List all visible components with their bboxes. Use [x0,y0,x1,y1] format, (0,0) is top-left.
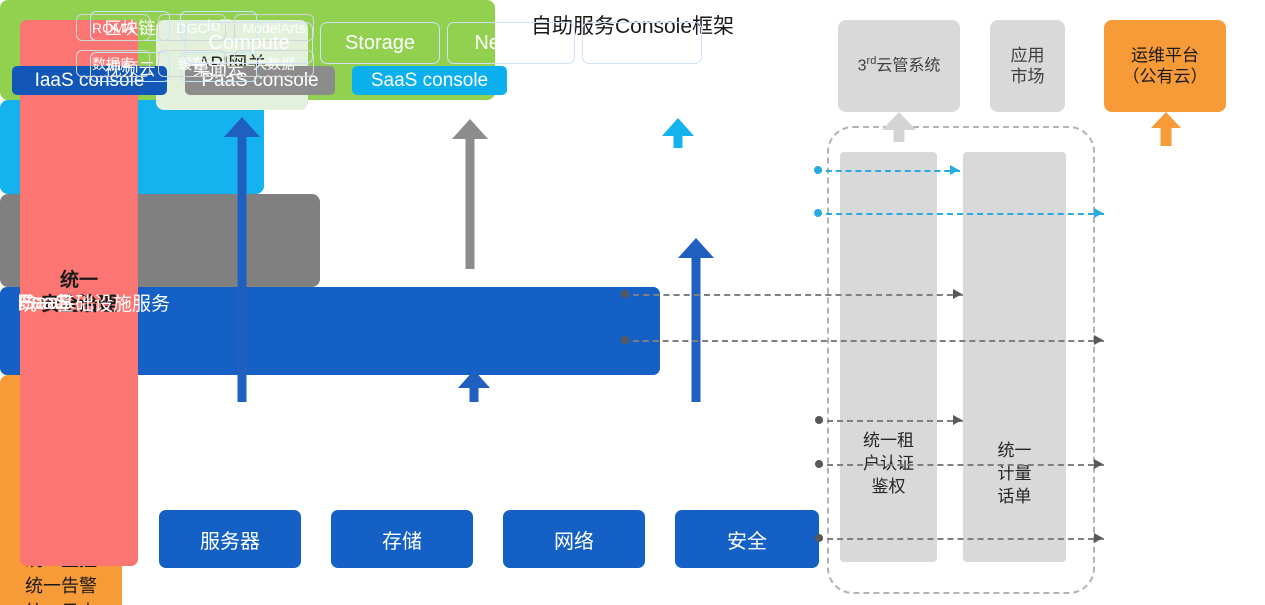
arrow-saas-to-console [662,118,694,148]
connector-infra-to-auth [817,420,963,422]
ops-platform-line-2: （公有云） [1123,66,1208,87]
connector-arrowhead [1094,335,1103,345]
resource-box-storage[interactable]: 存储 [331,510,473,568]
connector-arrowhead [1094,208,1103,218]
connector-saas-to-metering [816,170,960,172]
connector-dot [814,166,822,174]
auth-line-3: 鉴权 [840,476,937,499]
ops-platform-line-1: 运维平台 [1123,45,1208,66]
auth-line-1: 统一租 [840,430,937,453]
ops-platform-public-cloud-box: 运维平台 （公有云） [1104,20,1226,112]
connector-saas-to-ops [816,213,1104,215]
infrastructure-label: 统一基础设施服务 [18,0,170,605]
connector-arrowhead [950,165,959,175]
third-party-cloud-management-box: 3rd云管系统 [838,20,960,112]
arrow-infra-to-paas [458,370,490,402]
architecture-diagram: 统一 安全治理 API网关 自助服务Console框架 IaaS console… [0,0,1265,605]
infra-chip-compute[interactable]: Compute [185,22,313,64]
infra-chip-network[interactable]: Network [447,22,575,64]
connector-dot [815,460,823,468]
infra-chip-cce[interactable]: CCE [582,22,702,64]
unified-infrastructure-service-panel: 统一基础设施服务 Compute Storage Network CCE [0,287,660,375]
app-market-line-1: 应用 [1011,45,1045,66]
metering-line-3: 话单 [963,486,1066,509]
saas-console-chip[interactable]: SaaS console [352,66,507,95]
arrow-ops-column-to-ops-platform [1150,112,1182,146]
arrow-infra-to-api-gateway [224,117,260,402]
application-market-box: 应用 市场 [990,20,1065,112]
connector-arrowhead [953,289,962,299]
arrow-infra-to-saas [678,238,714,402]
arrow-paas-to-console [452,119,488,269]
connector-infra-to-ops [817,464,1104,466]
resource-box-security[interactable]: 安全 [675,510,819,568]
arrow-shared-to-third-party-cloud [882,112,916,142]
connector-resources-to-ops [817,538,1104,540]
connector-arrowhead [1094,459,1103,469]
connector-arrowhead [1094,533,1103,543]
connector-dot [814,209,822,217]
metering-line-2: 计量 [963,463,1066,486]
resource-box-network[interactable]: 网络 [503,510,645,568]
connector-dot [815,534,823,542]
third-party-label: 3rd云管系统 [858,55,941,76]
metering-line-1: 统一 [963,440,1066,463]
connector-arrowhead [953,415,962,425]
connector-dot [621,336,629,344]
connector-dot [815,416,823,424]
connector-paas-to-ops [623,340,1104,342]
connector-dot [621,290,629,298]
resource-box-server[interactable]: 服务器 [159,510,301,568]
app-market-line-2: 市场 [1011,66,1045,87]
connector-paas-to-auth [623,294,963,296]
infra-chip-storage[interactable]: Storage [320,22,440,64]
